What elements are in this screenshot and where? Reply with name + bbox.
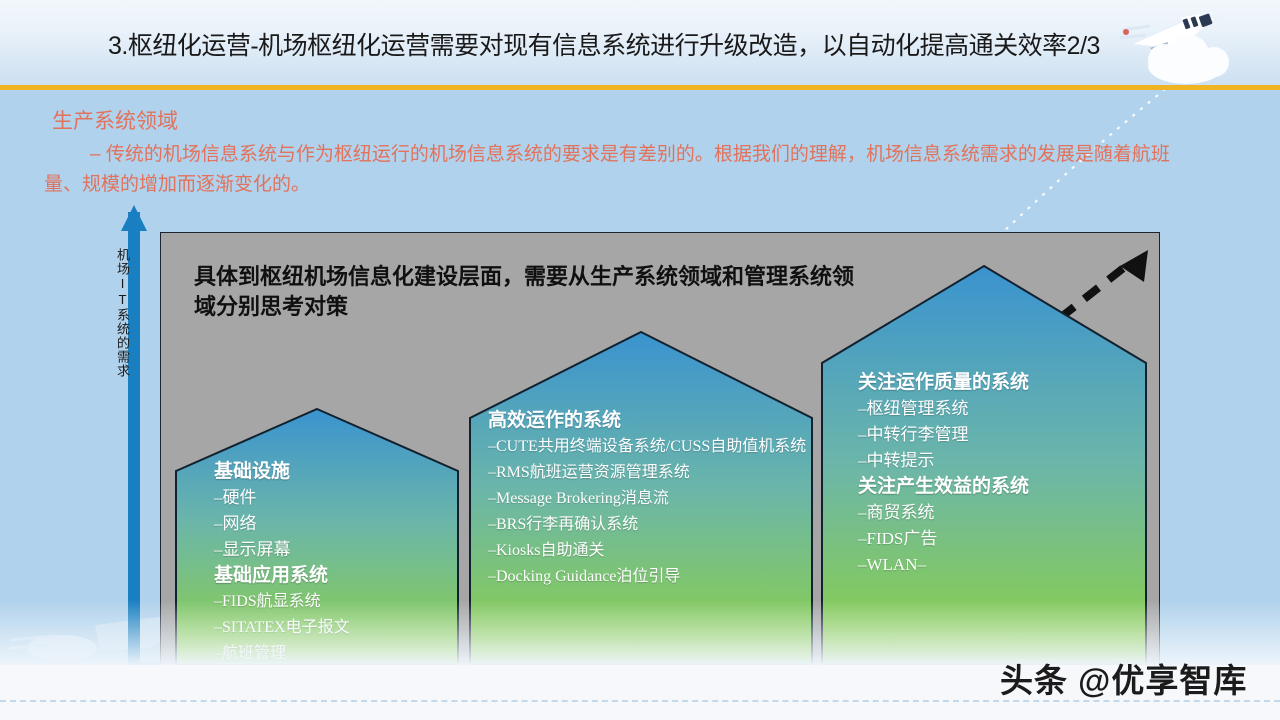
house-2-content: 高效运作的系统 –CUTE共用终端设备系统/CUSS自助值机系统 –RMS航班运… [488,408,808,590]
subtitle-heading: 生产系统领域 [52,108,178,136]
slide-canvas: 3.枢纽化运营-机场枢纽化运营需要对现有信息系统进行升级改造，以自动化提高通关效… [0,0,1280,720]
house-3-group-1-item-2: –WLAN– [858,552,1148,578]
house-3-group-0-title: 关注运作质量的系统 [858,370,1148,396]
house-3-group-0-item-2: –中转提示 [858,448,1148,474]
panel-caption: 具体到枢纽机场信息化建设层面，需要从生产系统领域和管理系统领域分别思考对策 [194,262,854,322]
house-1-group-0-item-1: –网络 [214,511,464,537]
house-3-group-0-item-0: –枢纽管理系统 [858,396,1148,422]
house-3-group-0-item-1: –中转行李管理 [858,422,1148,448]
house-2-group-0-title: 高效运作的系统 [488,408,808,434]
page-title: 3.枢纽化运营-机场枢纽化运营需要对现有信息系统进行升级改造，以自动化提高通关效… [108,30,1118,62]
house-2-group-0-item-4: –Kiosks自助通关 [488,538,808,564]
house-3-group-1-title: 关注产生效益的系统 [858,474,1148,500]
watermark: 头条 @优享智库 [1000,655,1280,707]
house-1-group-0-title: 基础设施 [214,459,464,485]
header-gold-rule [0,85,1280,90]
house-3-group-1-item-0: –商贸系统 [858,500,1148,526]
house-2-group-0-item-3: –BRS行李再确认系统 [488,512,808,538]
house-2-group-0-item-2: –Message Brokering消息流 [488,486,808,512]
house-2-group-0-item-1: –RMS航班运营资源管理系统 [488,460,808,486]
house-2-group-0-item-5: –Docking Guidance泊位引导 [488,564,808,590]
house-1-group-0-item-0: –硬件 [214,485,464,511]
house-1-group-0-item-2: –显示屏幕 [214,537,464,563]
house-3-group-1-item-1: –FIDS广告 [858,526,1148,552]
subtitle-body: – 传统的机场信息系统与作为枢纽运行的机场信息系统的要求是有差别的。根据我们的理… [44,140,1184,200]
house-1-group-1-title: 基础应用系统 [214,563,464,589]
house-2-group-0-item-0: –CUTE共用终端设备系统/CUSS自助值机系统 [488,434,808,460]
house-3-content: 关注运作质量的系统 –枢纽管理系统 –中转行李管理 –中转提示 关注产生效益的系… [858,370,1148,578]
y-axis-label: 机场IT系统的需求 [106,248,130,378]
airplane-icon [1120,0,1280,90]
